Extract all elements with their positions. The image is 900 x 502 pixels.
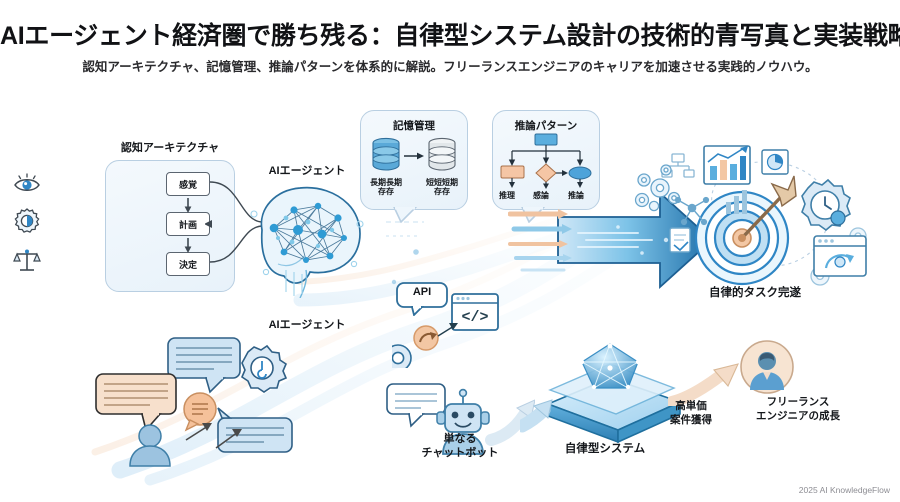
user-interaction-group [88, 330, 323, 470]
code-window-icon: </> [452, 294, 498, 330]
browser-window-icon [814, 236, 866, 276]
scales-icon [12, 245, 42, 275]
chat-bubble-blue-icon [168, 338, 240, 392]
brain-network-icon [232, 168, 382, 298]
memory-databases [370, 136, 458, 174]
arrow-circle-icon [414, 326, 438, 350]
reasoning-flowchart [498, 133, 594, 189]
database-icon-short-term [429, 138, 455, 170]
chat-bubble-blue-icon-2 [218, 408, 292, 452]
api-bubble: API [396, 282, 448, 308]
gear-icon [242, 346, 286, 392]
target-arrow-icon [622, 140, 887, 300]
target-label: 自律的タスク完遂 [640, 284, 870, 300]
gear-cluster-icon [636, 165, 680, 211]
footer-credit: 2025 AI KnowledgeFlow [799, 485, 890, 495]
document-icon [670, 228, 690, 252]
layered-platform-icon [520, 340, 690, 445]
memory-label-short-term: 短短短期 存存 [417, 178, 467, 196]
bar-chart-icon [704, 146, 750, 184]
svg-text:</>: </> [461, 309, 488, 326]
page-subtitle: 認知アーキテクチャ、記憶管理、推論パターンを体系的に解説。フリーランスエンジニア… [0, 56, 900, 75]
clock-gear-icon [802, 180, 850, 230]
gear-icon [392, 345, 411, 368]
memory-management-title: 記憶管理 [360, 118, 468, 133]
api-bubble-label: API [396, 286, 448, 298]
autonomous-system-label: 自律型システム [510, 440, 700, 456]
chat-bubble-small-peach-icon [184, 393, 216, 430]
reasoning-patterns-title: 推論パターン [492, 118, 600, 133]
person-icon [130, 425, 170, 466]
gear-icon [12, 206, 42, 236]
eye-icon [12, 170, 42, 200]
arrow-inflow-streams [508, 196, 578, 282]
chat-bubble-peach-icon [96, 374, 176, 430]
freelance-growth-label: フリーランス エンジニアの成長 [718, 396, 878, 423]
memory-panel-tail [392, 207, 418, 223]
infographic-page: AIエージェント経済圏で勝ち残る：自律型システム設計の技術的青写真と実装戦略 認… [0, 0, 900, 502]
pie-chart-icon [762, 150, 788, 174]
cognitive-architecture-title: 認知アーキテクチャ [105, 139, 235, 155]
page-title: AIエージェント経済圏で勝ち残る：自律型システム設計の技術的青写真と実装戦略 [0, 16, 900, 52]
